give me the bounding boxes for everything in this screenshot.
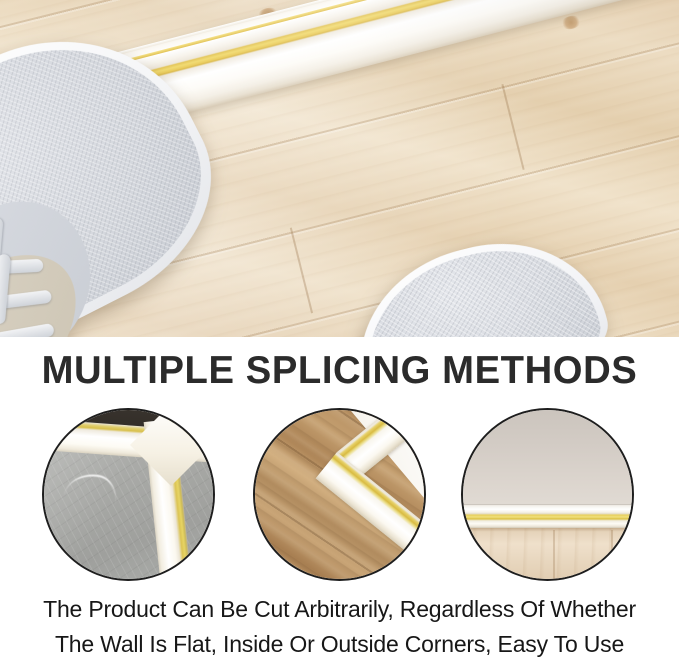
circle-inside-corner [42,408,215,581]
product-infographic-page: MULTIPLE SPLICING METHODS [0,0,679,663]
beige-wall-surface [461,408,634,504]
subtitle-line-1: The Product Can Be Cut Arbitrarily, Rega… [0,592,679,627]
circle-outside-corner [253,408,426,581]
circle-flat-wall [461,408,634,581]
headline-title: MULTIPLE SPLICING METHODS [7,349,672,393]
trim-strip-straight [461,504,634,528]
floor-plank-seam [611,530,613,581]
wood-grain-texture [461,528,634,581]
subtitle-line-2: The Wall Is Flat, Inside Or Outside Corn… [0,627,679,662]
subtitle-block: The Product Can Be Cut Arbitrarily, Rega… [0,592,679,662]
hero-photo [0,0,679,337]
light-wood-floor [461,528,634,581]
floor-plank-seam [553,530,555,581]
